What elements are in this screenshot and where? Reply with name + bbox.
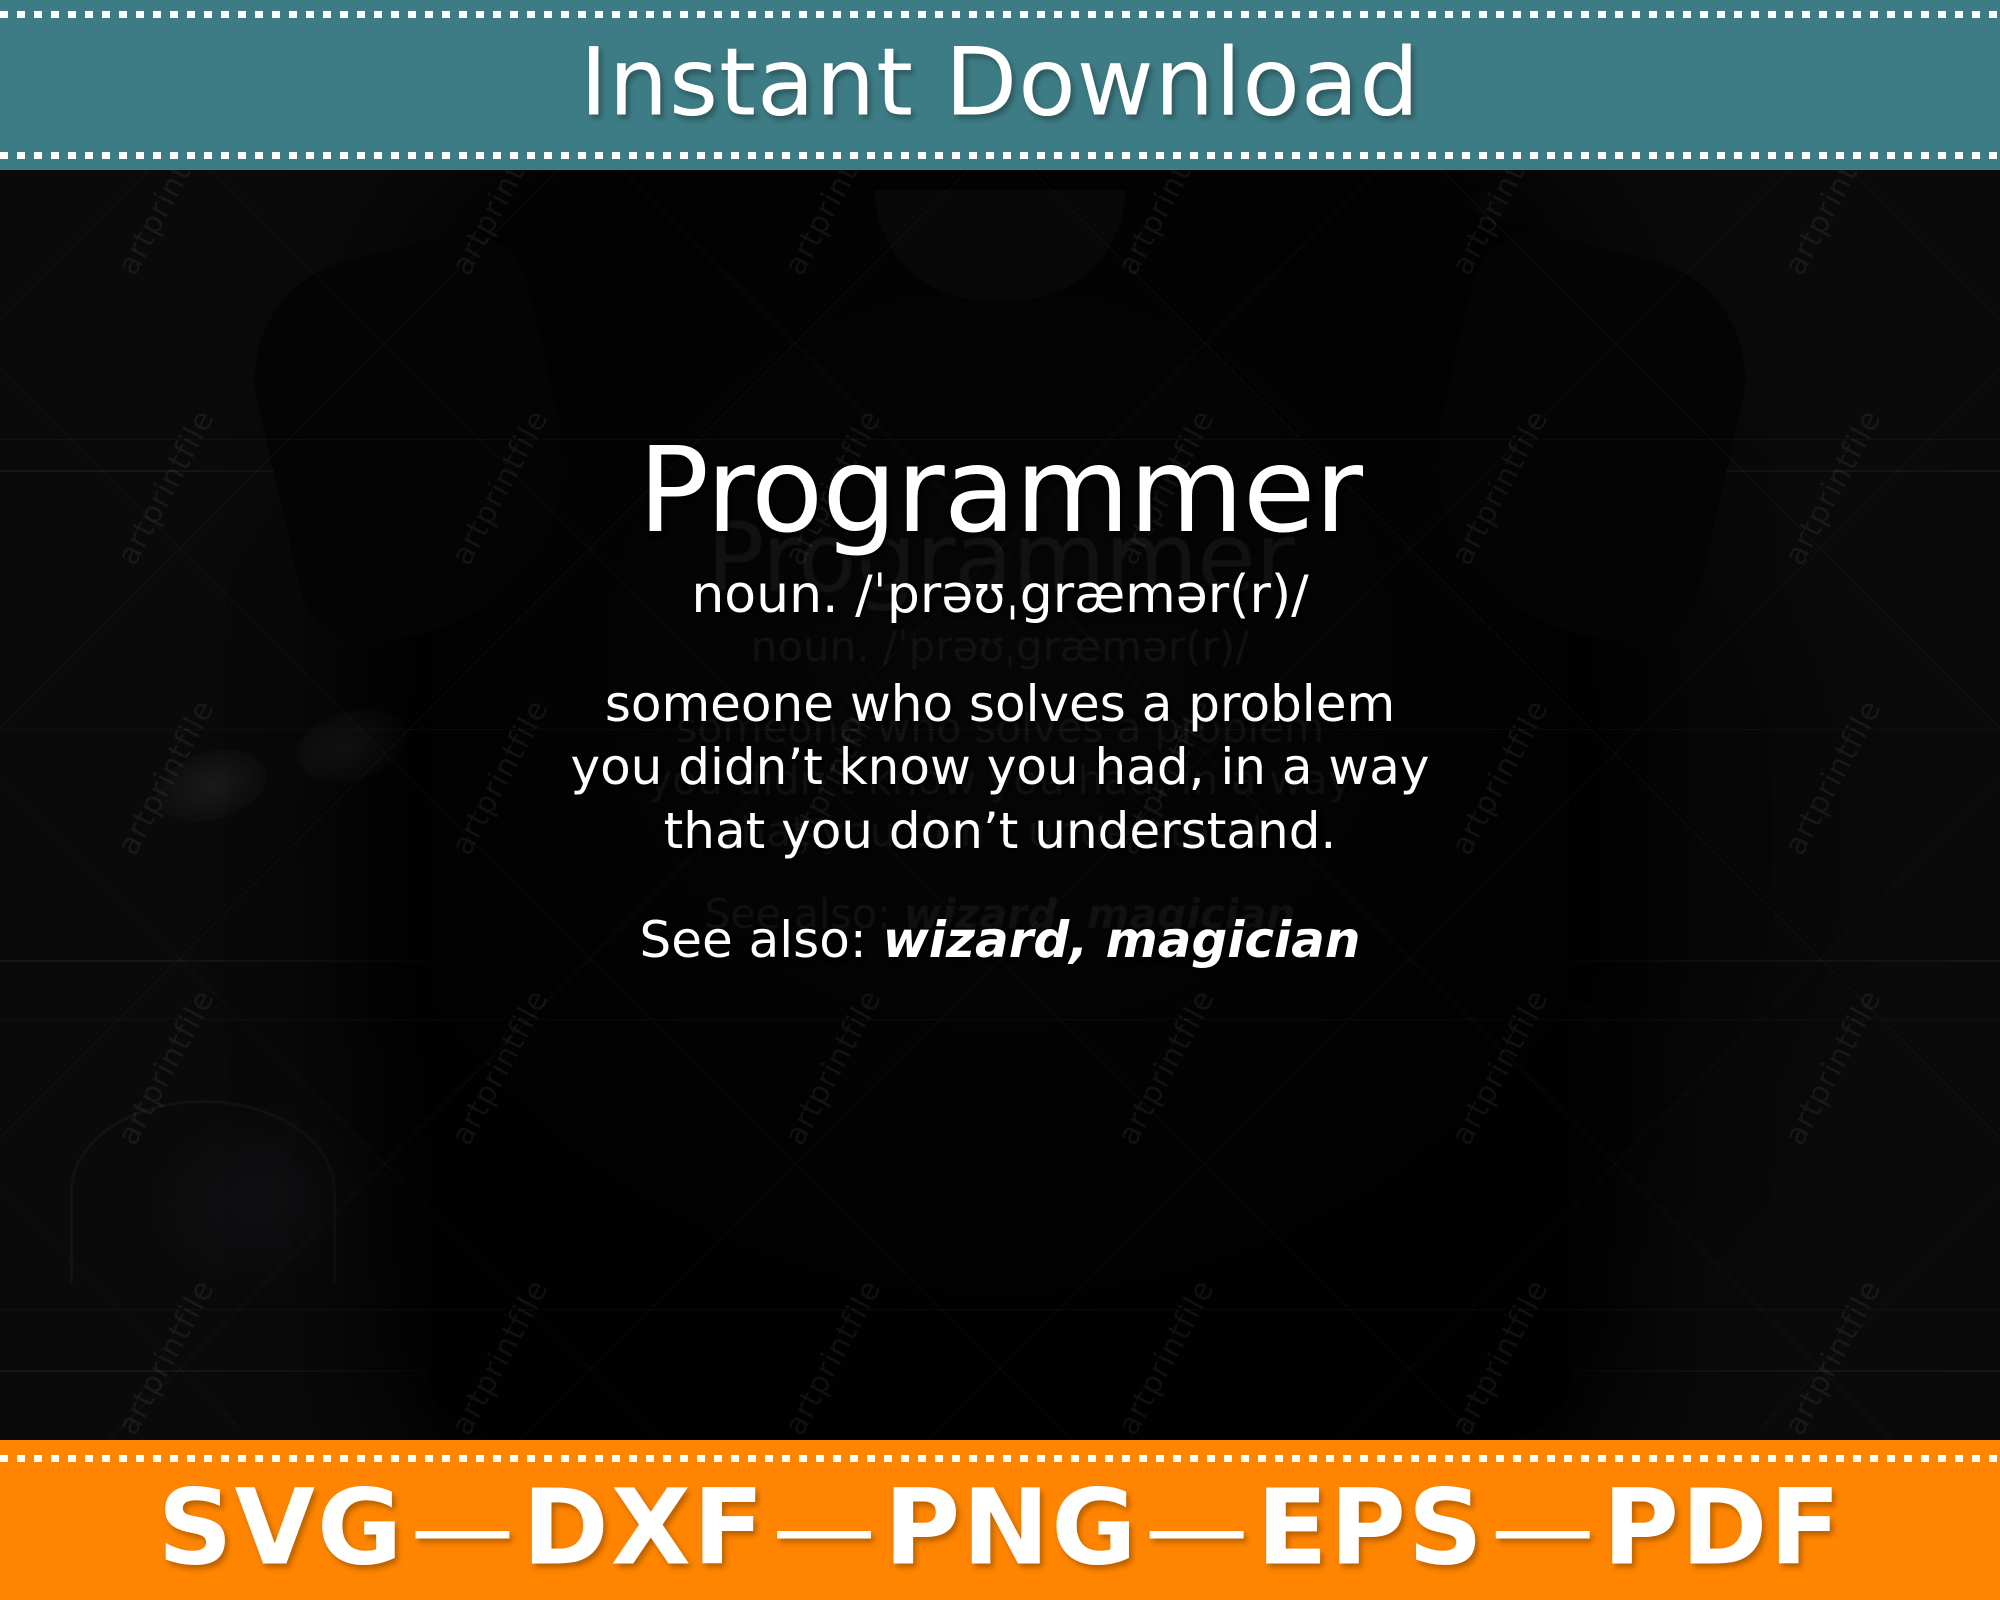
banner-dashed-rule-bottom: [0, 152, 2000, 159]
artwork-phonetic: noun. /ˈprəʊˌgræmər(r)/: [400, 564, 1600, 626]
format-separator: —: [1139, 1466, 1257, 1588]
artwork-definition-line: someone who solves a problem: [400, 673, 1600, 737]
format-separator: —: [404, 1466, 522, 1588]
file-formats-list: SVG—DXF—PNG—EPS—PDF: [0, 1466, 2000, 1588]
format-dxf: DXF: [522, 1466, 766, 1588]
artwork-definition-line: that you don’t understand.: [400, 800, 1600, 864]
artwork-design: Programmer noun. /ˈprəʊˌgræmər(r)/ someo…: [400, 430, 1600, 969]
format-eps: EPS: [1257, 1466, 1485, 1588]
format-separator: —: [1485, 1466, 1603, 1588]
file-formats-banner: SVG—DXF—PNG—EPS—PDF: [0, 1440, 2000, 1600]
artwork-see-also: See also: wizard, magician: [400, 911, 1600, 969]
artwork-see-also-label: See also:: [640, 911, 867, 969]
cable-prop: [70, 1100, 336, 1283]
artwork-definition: someone who solves a problem you didn’t …: [400, 673, 1600, 864]
artwork-see-also-refs: wizard, magician: [883, 911, 1361, 969]
banner-dashed-rule-top: [0, 11, 2000, 18]
format-svg: SVG: [158, 1466, 405, 1588]
format-png: PNG: [884, 1466, 1139, 1588]
product-listing-image: artprintfile artprintfile artprintfile a…: [0, 0, 2000, 1600]
instant-download-banner: Instant Download: [0, 0, 2000, 170]
artwork-definition-line: you didn’t know you had, in a way: [400, 736, 1600, 800]
banner-dashed-rule-top: [0, 1455, 2000, 1462]
format-pdf: PDF: [1603, 1466, 1843, 1588]
instant-download-title: Instant Download: [0, 28, 2000, 137]
tshirt-neckline: [875, 190, 1125, 300]
format-separator: —: [766, 1466, 884, 1588]
artwork-title: Programmer: [400, 430, 1600, 550]
